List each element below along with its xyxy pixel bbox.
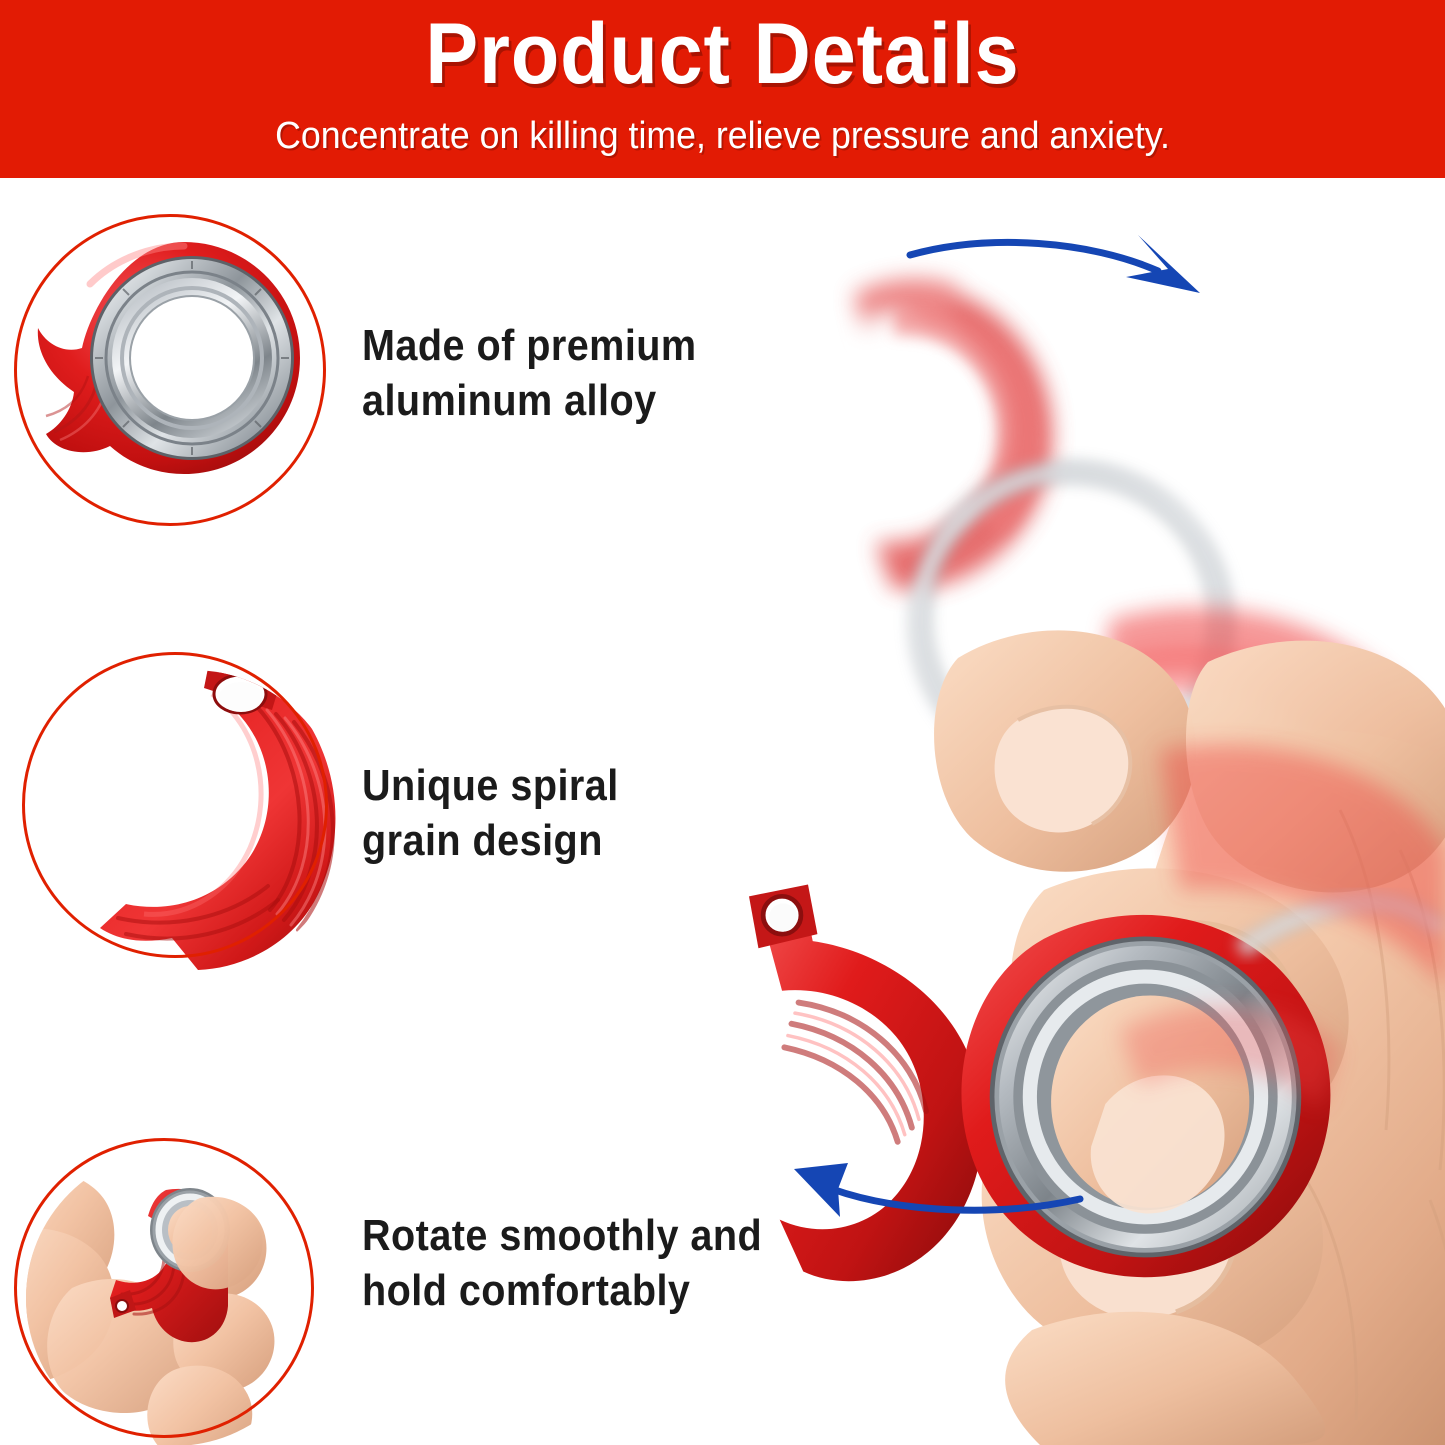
- feature-1-circle-outline: [14, 214, 326, 526]
- product-details-infographic: Product Details Concentrate on killing t…: [0, 0, 1445, 1445]
- header-banner: Product Details Concentrate on killing t…: [0, 0, 1445, 178]
- arrow-shaft: [910, 242, 1158, 271]
- page-title: Product Details: [58, 6, 1387, 102]
- feature-3-circle-outline: [14, 1138, 314, 1438]
- feature-spiral-grain: Unique spiral grain design: [0, 620, 740, 1020]
- feature-rotate-hold: Rotate smoothly and hold comfortably: [0, 1090, 740, 1445]
- feature-2-circle-outline: [22, 652, 328, 958]
- rotation-arrow-top: [900, 225, 1220, 335]
- feature-premium-aluminum: Made of premium aluminum alloy: [0, 178, 740, 578]
- rotation-arrow-bottom: [780, 1155, 1100, 1265]
- page-subtitle: Concentrate on killing time, relieve pre…: [43, 114, 1401, 158]
- arrow-shaft: [832, 1189, 1080, 1210]
